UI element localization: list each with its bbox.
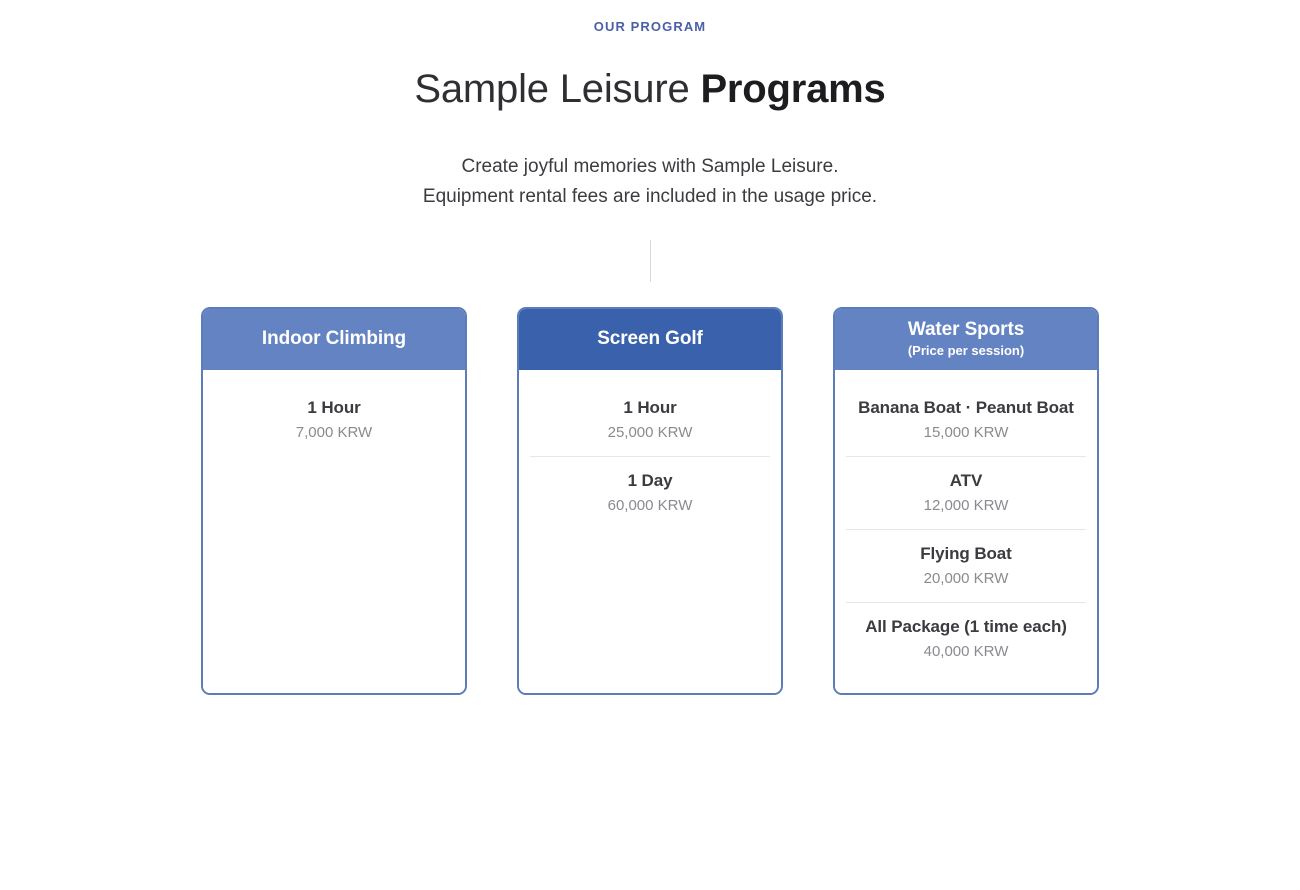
price-row-label: ATV [846,468,1086,494]
page-title-bold: Programs [700,67,885,111]
price-row: Flying Boat20,000 KRW [846,529,1086,602]
section-eyebrow: OUR PROGRAM [0,19,1300,34]
pricing-card-title: Indoor Climbing [262,328,406,351]
pricing-card-title: Screen Golf [597,328,703,351]
price-row-amount: 12,000 KRW [846,495,1086,518]
price-row: 1 Hour25,000 KRW [530,384,770,456]
price-row-amount: 40,000 KRW [846,641,1086,664]
price-row: ATV12,000 KRW [846,456,1086,529]
pricing-card-header: Screen Golf [519,309,781,370]
pricing-card-subtitle: (Price per session) [908,343,1024,359]
pricing-card-body: Banana Boat · Peanut Boat15,000 KRWATV12… [835,370,1097,693]
price-row-label: Banana Boat · Peanut Boat [846,395,1086,421]
price-row-label: All Package (1 time each) [846,614,1086,640]
pricing-card-header: Water Sports(Price per session) [835,309,1097,370]
price-row-label: 1 Hour [530,395,770,421]
pricing-card: Screen Golf1 Hour25,000 KRW1 Day60,000 K… [517,307,783,695]
header-divider-wrap [0,240,1300,282]
price-row-label: 1 Hour [214,395,454,421]
price-row-label: Flying Boat [846,541,1086,567]
price-row-amount: 60,000 KRW [530,495,770,518]
page-title: Sample Leisure Programs [0,66,1300,112]
price-row: 1 Day60,000 KRW [530,456,770,529]
price-row-label: 1 Day [530,468,770,494]
pricing-card: Water Sports(Price per session)Banana Bo… [833,307,1099,695]
pricing-card-header: Indoor Climbing [203,309,465,370]
price-row: 1 Hour7,000 KRW [214,384,454,456]
price-row-amount: 15,000 KRW [846,422,1086,445]
page-subtitle-line-2: Equipment rental fees are included in th… [0,182,1300,212]
price-row: All Package (1 time each)40,000 KRW [846,602,1086,675]
price-row-amount: 20,000 KRW [846,568,1086,591]
vertical-divider [650,240,651,282]
page-title-light: Sample Leisure [414,67,689,111]
pricing-card-list: Indoor Climbing1 Hour7,000 KRWScreen Gol… [0,307,1300,695]
price-row: Banana Boat · Peanut Boat15,000 KRW [846,384,1086,456]
price-row-amount: 7,000 KRW [214,422,454,445]
pricing-card-body: 1 Hour7,000 KRW [203,370,465,693]
pricing-card-title: Water Sports [908,319,1024,342]
program-pricing-page: OUR PROGRAM Sample Leisure Programs Crea… [0,0,1300,890]
pricing-card-body: 1 Hour25,000 KRW1 Day60,000 KRW [519,370,781,693]
pricing-card: Indoor Climbing1 Hour7,000 KRW [201,307,467,695]
price-row-amount: 25,000 KRW [530,422,770,445]
page-subtitle: Create joyful memories with Sample Leisu… [0,152,1300,212]
page-subtitle-line-1: Create joyful memories with Sample Leisu… [0,152,1300,182]
